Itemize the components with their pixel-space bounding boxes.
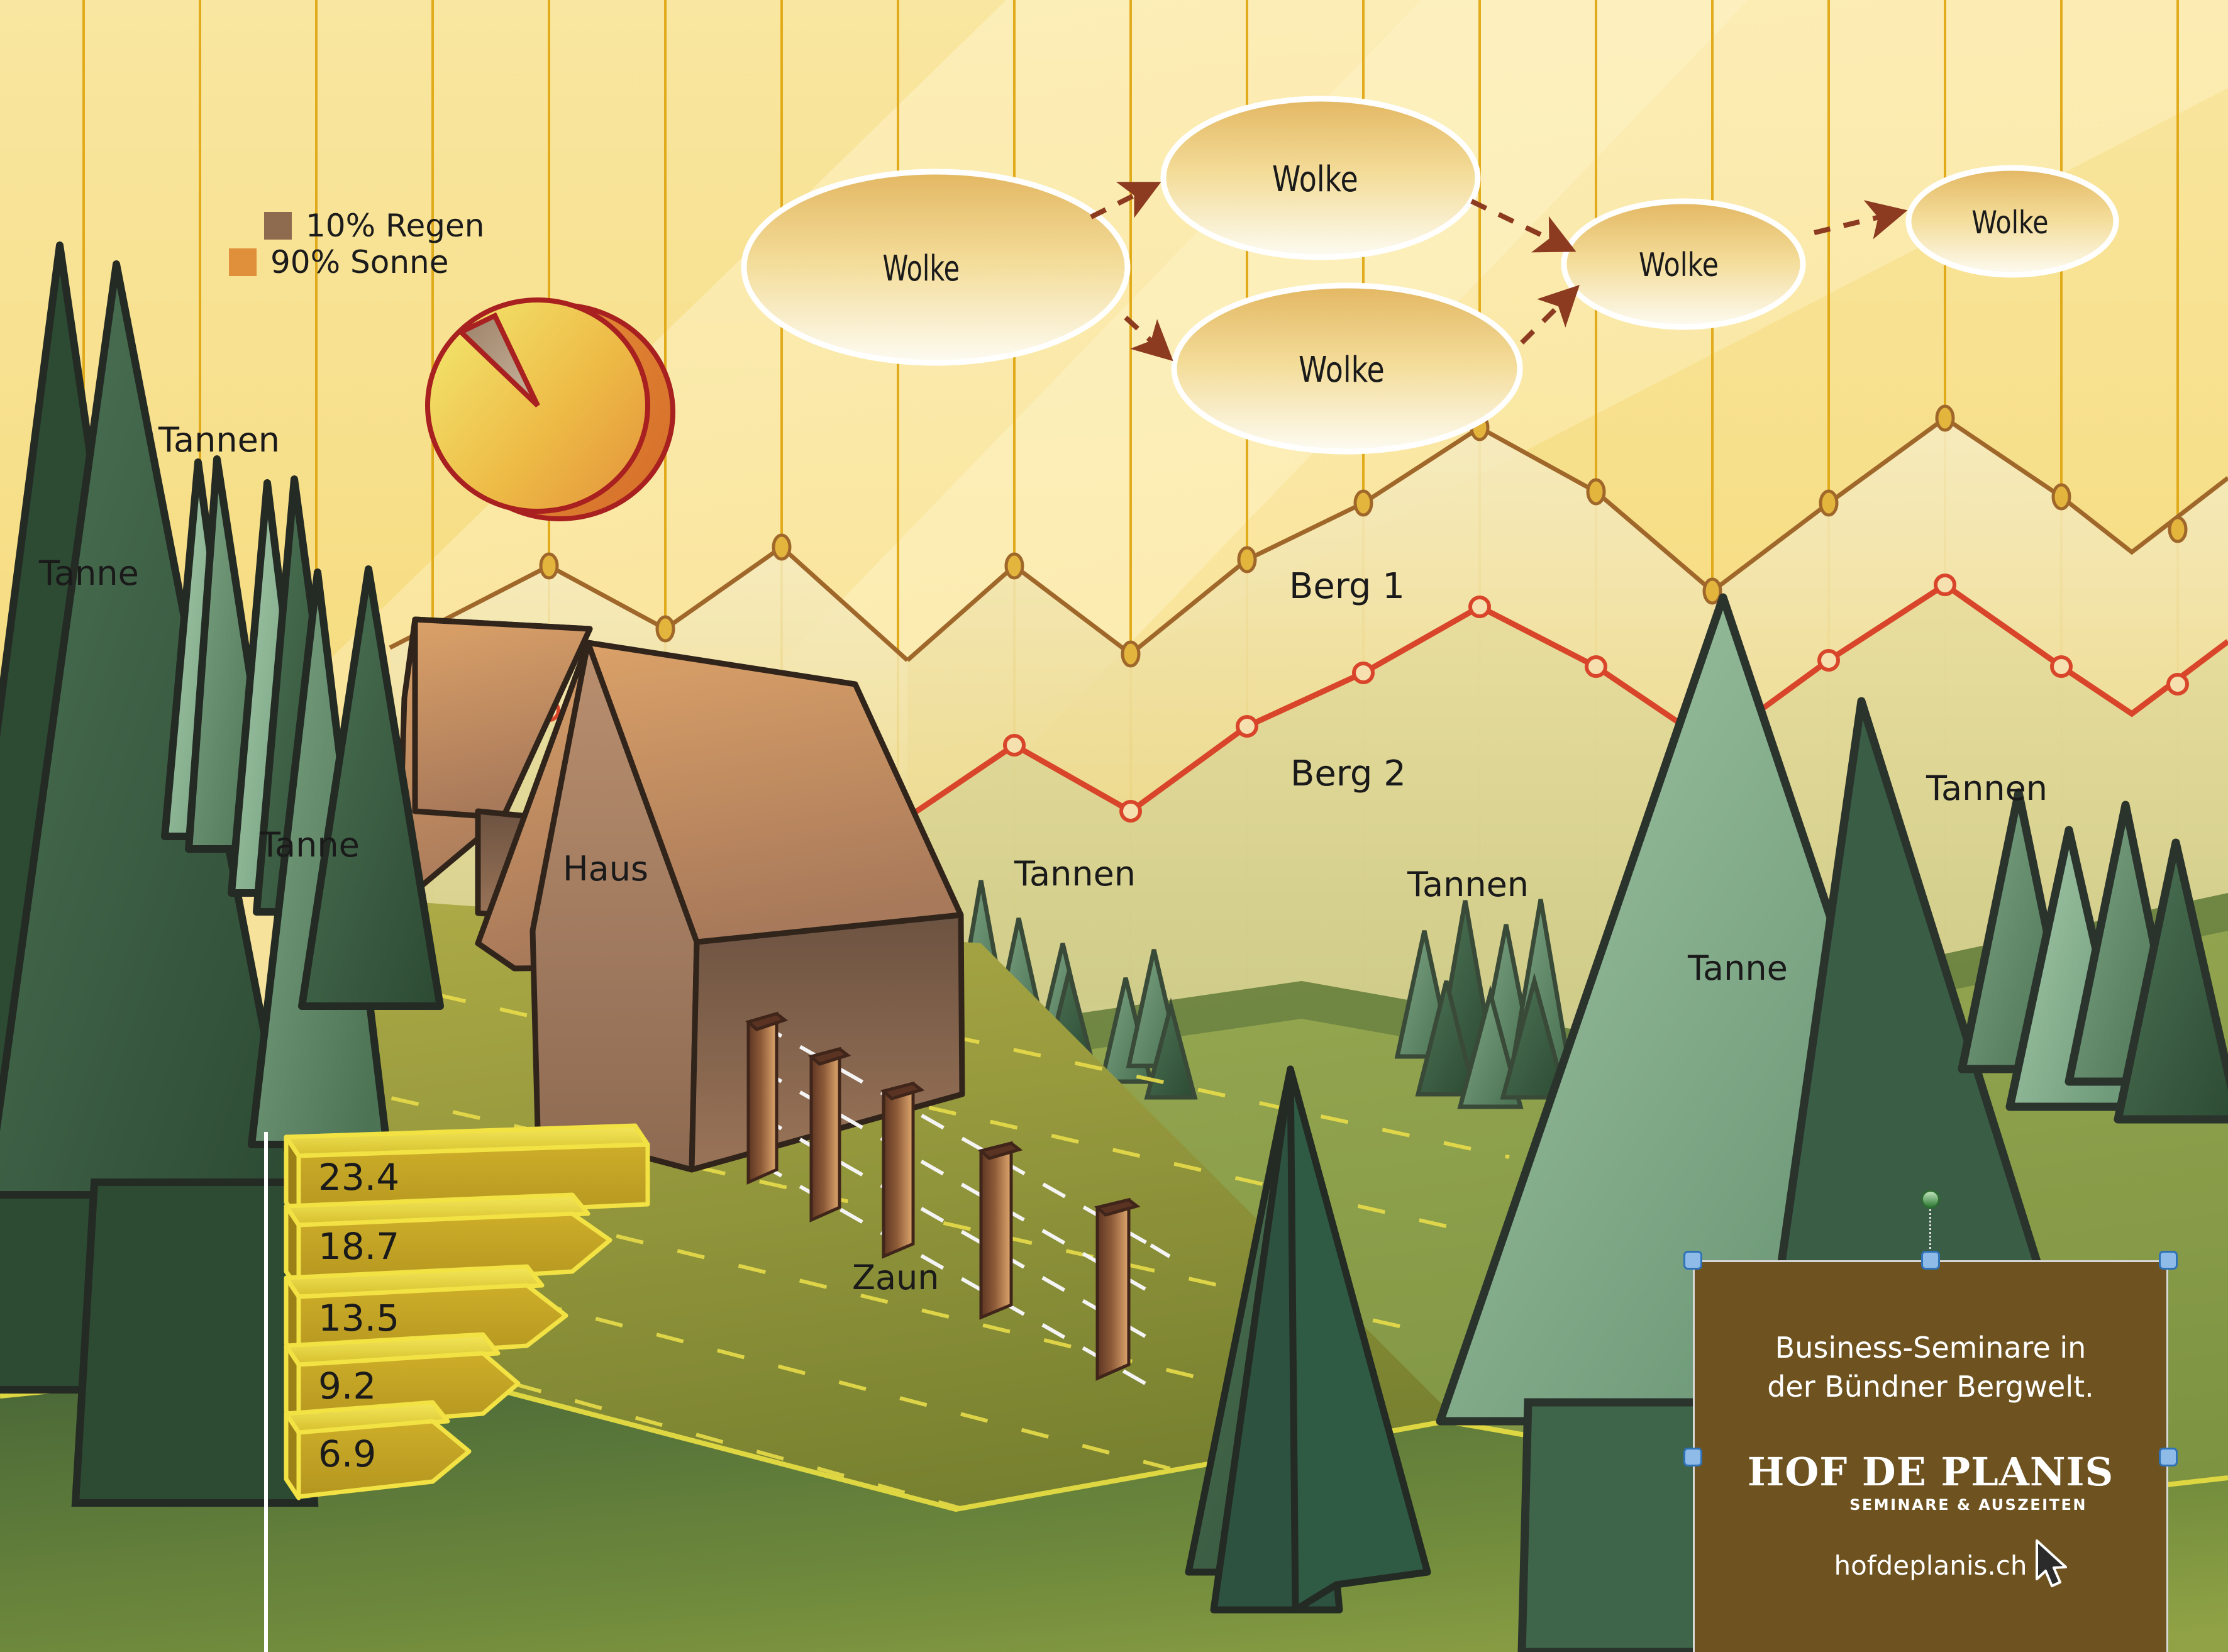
resize-handle-middle-left[interactable] (1683, 1448, 1702, 1466)
chart-landscape-canvas: 10% Regen 90% Sonne Berg 1 Berg 2 Wolke … (0, 0, 2228, 1652)
resize-handle-middle-right[interactable] (2159, 1448, 2178, 1466)
cloud-ellipse (1909, 168, 2116, 275)
mouse-cursor (2035, 1539, 2073, 1591)
legend-label-regen: 10% Regen (306, 208, 484, 244)
resize-handle-top-right[interactable] (2159, 1251, 2178, 1270)
cloud-ellipse (1163, 99, 1478, 257)
resize-handle-top-center[interactable] (1921, 1251, 1940, 1270)
cloud-ellipse (1564, 201, 1803, 327)
tree-left-big-trunk (75, 1182, 314, 1503)
legend-item-regen[interactable]: 10% Regen (264, 208, 484, 244)
legend-swatch-regen (264, 212, 292, 240)
advert-headline-line2: der Bündner Bergwelt. (1695, 1367, 2166, 1406)
chart-legend[interactable]: 10% Regen 90% Sonne (264, 208, 484, 280)
advert-headline-line1: Business-Seminare in (1695, 1328, 2166, 1367)
resize-handle-top-left[interactable] (1683, 1251, 1702, 1270)
advert-headline: Business-Seminare in der Bündner Bergwel… (1695, 1328, 2166, 1406)
legend-swatch-sonne (229, 248, 257, 276)
advert-logo: HOF DE PLANIS (1695, 1449, 2166, 1495)
legend-label-sonne: 90% Sonne (270, 244, 449, 280)
legend-item-sonne[interactable]: 90% Sonne (229, 244, 484, 280)
advert-url[interactable]: hofdeplanis.ch (1695, 1550, 2166, 1581)
rotation-handle[interactable] (1921, 1190, 1940, 1209)
cloud-ellipse (1174, 285, 1520, 452)
cloud-ellipse (744, 172, 1128, 363)
advert-logo-subtitle: SEMINARE & AUSZEITEN (1770, 1496, 2166, 1514)
advert-image[interactable]: Business-Seminare in der Bündner Bergwel… (1695, 1262, 2166, 1652)
pie-chart-sun (428, 300, 673, 519)
